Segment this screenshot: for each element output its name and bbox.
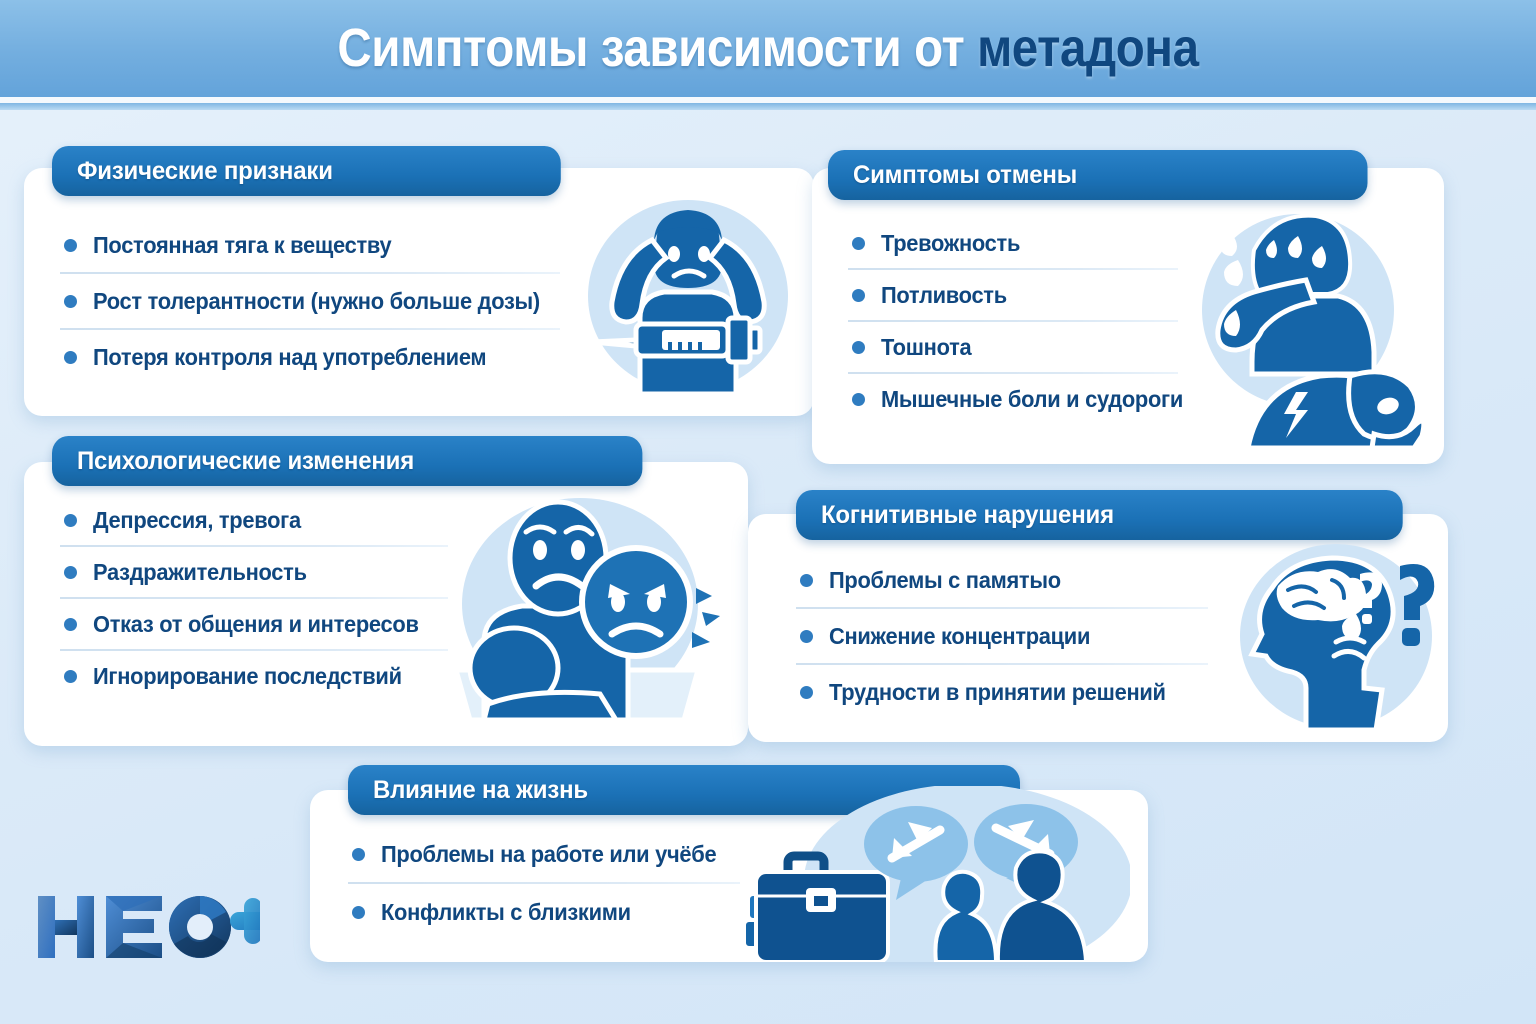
list-item: Мышечные боли и судороги bbox=[848, 381, 1178, 417]
list-item: Рост толерантности (нужно больше дозы) bbox=[60, 282, 560, 320]
card-title-cognitive-impairment: Когнитивные нарушения bbox=[821, 501, 1114, 530]
list-item: Постоянная тяга к веществу bbox=[60, 226, 560, 264]
bullet-list-psychological-changes: Депрессия, тревога Раздражительность Отк… bbox=[60, 502, 448, 694]
list-divider bbox=[60, 649, 448, 651]
list-item: Потеря контроля над употреблением bbox=[60, 338, 560, 376]
list-divider bbox=[60, 272, 560, 274]
bullet-dot-icon bbox=[64, 351, 77, 364]
list-item-label: Отказ от общения и интересов bbox=[93, 611, 419, 638]
infographic-poster: Симптомы зависимости от метадона Физичес… bbox=[0, 0, 1536, 1024]
bullet-list-withdrawal-symptoms: Тревожность Потливость Тошнота Мышечные … bbox=[848, 225, 1178, 417]
list-item-label: Игнорирование последствий bbox=[93, 663, 402, 690]
bullet-dot-icon bbox=[800, 574, 813, 587]
list-divider bbox=[348, 882, 740, 884]
bullet-dot-icon bbox=[64, 514, 77, 527]
list-item: Раздражительность bbox=[60, 554, 448, 590]
bullet-dot-icon bbox=[64, 566, 77, 579]
list-item-label: Депрессия, тревога bbox=[93, 507, 301, 534]
list-item: Депрессия, тревога bbox=[60, 502, 448, 538]
list-item: Тревожность bbox=[848, 225, 1178, 261]
bullet-dot-icon bbox=[852, 393, 865, 406]
bullet-dot-icon bbox=[800, 630, 813, 643]
brand-logo bbox=[30, 888, 260, 966]
list-divider bbox=[848, 320, 1178, 322]
briefcase-books-and-arguing-people-icon bbox=[740, 786, 1130, 962]
list-item-label: Трудности в принятии решений bbox=[829, 679, 1166, 706]
list-item: Игнорирование последствий bbox=[60, 658, 448, 694]
bullet-dot-icon bbox=[800, 686, 813, 699]
list-item: Снижение концентрации bbox=[796, 618, 1208, 654]
list-divider bbox=[796, 607, 1208, 609]
bullet-dot-icon bbox=[64, 618, 77, 631]
list-item: Потливость bbox=[848, 277, 1178, 313]
page-title-main: Симптомы зависимости от bbox=[337, 18, 977, 78]
list-divider bbox=[60, 328, 560, 330]
bullet-dot-icon bbox=[852, 237, 865, 250]
list-item-label: Постоянная тяга к веществу bbox=[93, 232, 391, 259]
sweating-person-with-cramps-icon bbox=[1188, 198, 1440, 448]
bullet-list-life-impact: Проблемы на работе или учёбе Конфликты с… bbox=[348, 836, 740, 930]
list-divider bbox=[848, 372, 1178, 374]
list-item: Тошнота bbox=[848, 329, 1178, 365]
list-divider bbox=[796, 663, 1208, 665]
card-header-withdrawal-symptoms: Симптомы отмены bbox=[828, 150, 1368, 200]
page-title: Симптомы зависимости от метадона bbox=[92, 10, 1444, 86]
list-item-label: Мышечные боли и судороги bbox=[881, 386, 1183, 413]
card-header-cognitive-impairment: Когнитивные нарушения bbox=[796, 490, 1403, 540]
list-item-label: Снижение концентрации bbox=[829, 623, 1090, 650]
bullet-dot-icon bbox=[64, 239, 77, 252]
list-divider bbox=[848, 268, 1178, 270]
card-header-psychological-changes: Психологические изменения bbox=[52, 436, 642, 486]
bullet-list-cognitive-impairment: Проблемы с памятыо Снижение концентрации… bbox=[796, 562, 1208, 710]
card-title-withdrawal-symptoms: Симптомы отмены bbox=[853, 161, 1077, 190]
head-with-brain-and-question-marks-icon bbox=[1232, 538, 1448, 738]
logo-letter-n bbox=[38, 896, 94, 958]
stressed-person-with-syringe-icon bbox=[578, 196, 798, 394]
card-title-psychological-changes: Психологические изменения bbox=[77, 447, 414, 476]
bullet-dot-icon bbox=[352, 906, 365, 919]
list-item: Конфликты с близкими bbox=[348, 894, 740, 930]
list-item-label: Проблемы на работе или учёбе bbox=[381, 841, 716, 868]
header-divider-blue bbox=[0, 103, 1536, 110]
card-title-life-impact: Влияние на жизнь bbox=[373, 776, 588, 805]
bullet-dot-icon bbox=[64, 670, 77, 683]
bullet-dot-icon bbox=[852, 289, 865, 302]
logo-letter-e bbox=[106, 896, 162, 958]
list-divider bbox=[60, 597, 448, 599]
page-title-accent: метадона bbox=[977, 18, 1198, 78]
sad-and-angry-faces-icon bbox=[440, 492, 720, 720]
list-item-label: Раздражительность bbox=[93, 559, 307, 586]
list-item-label: Потеря контроля над употреблением bbox=[93, 344, 486, 371]
logo-letter-o bbox=[169, 896, 231, 958]
list-item-label: Рост толерантности (нужно больше дозы) bbox=[93, 288, 540, 315]
card-header-physical-signs: Физические признаки bbox=[52, 146, 561, 196]
bullet-dot-icon bbox=[64, 295, 77, 308]
list-divider bbox=[60, 545, 448, 547]
logo-plus-icon bbox=[230, 898, 260, 944]
list-item-label: Тошнота bbox=[881, 334, 971, 361]
bullet-dot-icon bbox=[852, 341, 865, 354]
list-item-label: Проблемы с памятыо bbox=[829, 567, 1061, 594]
list-item: Трудности в принятии решений bbox=[796, 674, 1208, 710]
list-item: Проблемы на работе или учёбе bbox=[348, 836, 740, 872]
list-item: Отказ от общения и интересов bbox=[60, 606, 448, 642]
bullet-list-physical-signs: Постоянная тяга к веществу Рост толерант… bbox=[60, 226, 560, 376]
bullet-dot-icon bbox=[352, 848, 365, 861]
card-title-physical-signs: Физические признаки bbox=[77, 157, 333, 186]
list-item-label: Потливость bbox=[881, 282, 1007, 309]
list-item-label: Тревожность bbox=[881, 230, 1020, 257]
list-item-label: Конфликты с близкими bbox=[381, 899, 631, 926]
list-item: Проблемы с памятыо bbox=[796, 562, 1208, 598]
